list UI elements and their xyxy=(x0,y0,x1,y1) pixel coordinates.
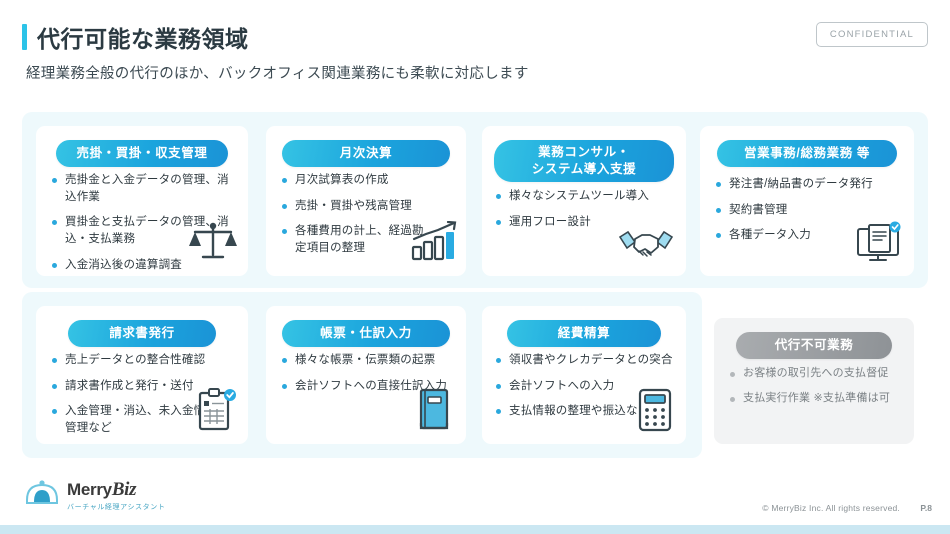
clipboard-check-icon xyxy=(196,387,238,438)
excluded-services-card[interactable]: 代行不可業務 お客様の取引先への支払督促 支払実行作業 ※支払準備は可 xyxy=(714,318,914,444)
monitor-document-icon xyxy=(854,221,904,270)
logo-wordmark: MerryBiz xyxy=(67,480,165,499)
card-title-pill: 請求書発行 xyxy=(68,320,216,347)
logo-biz: Biz xyxy=(112,479,136,500)
bar-chart-growth-icon xyxy=(410,221,458,268)
service-card-journal-entry[interactable]: 帳票・仕訳入力 様々な帳票・伝票類の起票 会計ソフトへの直接仕訳入力 xyxy=(266,306,466,444)
page-subtitle: 経理業務全般の代行のほか、バックオフィス関連業務にも柔軟に対応します xyxy=(26,62,529,83)
list-item: 各種費用の計上、経過勘定項目の整理 xyxy=(280,223,430,256)
list-item: 領収書やクレカデータとの突合 xyxy=(494,352,674,369)
bottom-accent-bar xyxy=(0,525,950,534)
list-item: 売上データとの整合性確認 xyxy=(50,352,230,369)
list-item: 様々な帳票・伝票類の起票 xyxy=(280,352,460,369)
page-title: 代行可能な業務領域 xyxy=(37,20,249,54)
card-title-pill: 営業事務/総務業務 等 xyxy=(717,140,897,167)
card-title-pill: 業務コンサル・ システム導入支援 xyxy=(494,140,674,182)
card-title-pill: 帳票・仕訳入力 xyxy=(282,320,450,347)
card-title-pill: 月次決算 xyxy=(282,140,450,167)
logo-text: MerryBiz バーチャル経理アシスタント xyxy=(67,478,165,512)
page-number: P.8 xyxy=(920,503,932,513)
service-card-sales-admin[interactable]: 営業事務/総務業務 等 発注書/納品書のデータ発行 契約書管理 各種データ入力 xyxy=(700,126,914,276)
excluded-title-pill: 代行不可業務 xyxy=(736,332,892,359)
service-card-monthly-closing[interactable]: 月次決算 月次試算表の作成 売掛・買掛や残高管理 各種費用の計上、経過勘定項目の… xyxy=(266,126,466,276)
ledger-book-icon xyxy=(416,387,452,438)
calculator-icon xyxy=(636,387,674,438)
card-title-pill: 経費精算 xyxy=(507,320,661,347)
service-card-invoicing[interactable]: 請求書発行 売上データとの整合性確認 請求書作成と発行・送付 入金管理・消込、未… xyxy=(36,306,248,444)
slide-header: 代行可能な業務領域 経理業務全般の代行のほか、バックオフィス関連業務にも柔軟に対… xyxy=(0,0,950,108)
page-title-row: 代行可能な業務領域 xyxy=(22,20,249,54)
service-card-consulting[interactable]: 業務コンサル・ システム導入支援 様々なシステムツール導入 運用フロー設計 xyxy=(482,126,686,276)
balance-scales-icon xyxy=(188,219,238,270)
excluded-bullet-list: お客様の取引先への支払督促 支払実行作業 ※支払準備は可 xyxy=(728,366,908,416)
confidential-badge: CONFIDENTIAL xyxy=(816,22,928,47)
list-item: 売掛・買掛や残高管理 xyxy=(280,198,430,215)
list-item: 発注書/納品書のデータ発行 xyxy=(714,176,894,193)
list-item: 契約書管理 xyxy=(714,202,894,219)
card-title-line1: 業務コンサル・ xyxy=(494,144,674,161)
merrybiz-mark-icon xyxy=(24,478,60,508)
service-card-expense[interactable]: 経費精算 領収書やクレカデータとの突合 会計ソフトへの入力 支払情報の整理や振込… xyxy=(482,306,686,444)
logo-tagline: バーチャル経理アシスタント xyxy=(67,502,165,512)
company-logo: MerryBiz バーチャル経理アシスタント xyxy=(24,478,165,512)
list-item: 支払実行作業 ※支払準備は可 xyxy=(728,391,908,407)
handshake-icon xyxy=(618,225,674,268)
card-title-line2: システム導入支援 xyxy=(494,161,674,178)
card-bullet-list: 月次試算表の作成 売掛・買掛や残高管理 各種費用の計上、経過勘定項目の整理 xyxy=(280,172,430,266)
list-item: 月次試算表の作成 xyxy=(280,172,430,189)
copyright-text: © MerryBiz Inc. All rights reserved. xyxy=(762,503,900,513)
card-title-pill: 売掛・買掛・収支管理 xyxy=(56,140,228,167)
title-accent-bar xyxy=(22,24,27,50)
slide-root: 代行可能な業務領域 経理業務全般の代行のほか、バックオフィス関連業務にも柔軟に対… xyxy=(0,0,950,534)
list-item: 様々なシステムツール導入 xyxy=(494,188,679,205)
list-item: お客様の取引先への支払督促 xyxy=(728,366,908,382)
service-card-receivables[interactable]: 売掛・買掛・収支管理 売掛金と入金データの管理、消込作業 買掛金と支払データの管… xyxy=(36,126,248,276)
logo-merry: Merry xyxy=(67,480,112,499)
list-item: 売掛金と入金データの管理、消込作業 xyxy=(50,172,240,205)
